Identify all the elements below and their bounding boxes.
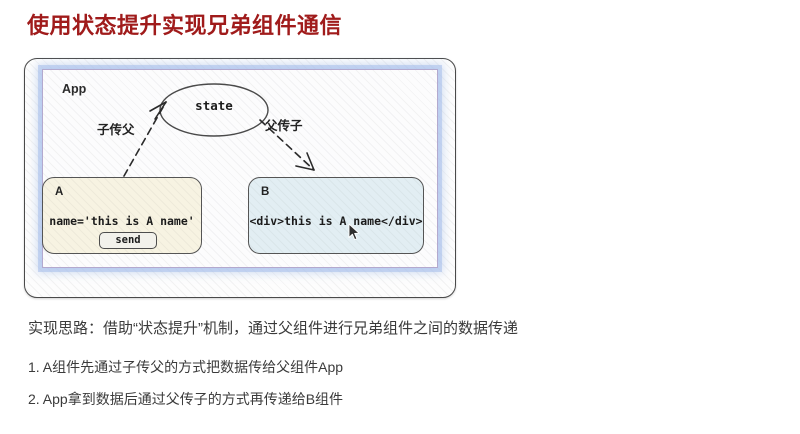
mouse-cursor-icon (348, 223, 361, 241)
component-a-box: A name='this is A name' send (42, 177, 202, 254)
component-b-code: <div>this is A name</div> (249, 214, 423, 228)
component-b-box: B <div>this is A name</div> (248, 177, 424, 254)
component-b-tag: B (261, 186, 269, 198)
state-node-label: state (166, 98, 262, 113)
summary-text: 实现思路：借助“状态提升”机制，通过父组件进行兄弟组件之间的数据传递 (28, 317, 518, 338)
state-lifting-diagram: App state 子传父 父传子 A name='this is A name… (24, 58, 456, 298)
component-a-code: name='this is A name' (43, 214, 201, 228)
app-component-label: App (62, 82, 86, 96)
child-to-parent-label: 子传父 (97, 119, 135, 138)
send-button[interactable]: send (99, 232, 157, 249)
parent-to-child-label: 父传子 (265, 115, 303, 134)
step-item-1: 1. A组件先通过子传父的方式把数据传给父组件App (28, 357, 343, 377)
page-title: 使用状态提升实现兄弟组件通信 (27, 8, 342, 40)
step-item-2: 2. App拿到数据后通过父传子的方式再传递给B组件 (28, 389, 343, 409)
component-a-tag: A (55, 186, 63, 198)
